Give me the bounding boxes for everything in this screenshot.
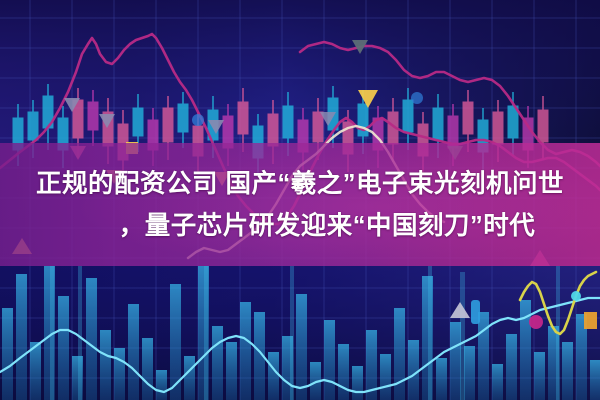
banner-image: 正规的配资公司 国产“羲之”电子束光刻机问世 ，量子芯片研发迎来“中国刻刀”时代	[0, 0, 600, 400]
title-line-1: 正规的配资公司 国产“羲之”电子束光刻机问世	[36, 164, 564, 204]
title-line-2: ，量子芯片研发迎来“中国刻刀”时代	[65, 206, 536, 246]
square-marker	[471, 300, 480, 324]
circle-marker	[571, 291, 581, 301]
title-block: 正规的配资公司 国产“羲之”电子束光刻机问世 ，量子芯片研发迎来“中国刻刀”时代	[0, 143, 600, 266]
circle-marker	[192, 114, 204, 126]
circle-marker	[529, 315, 543, 329]
square-marker	[584, 312, 597, 329]
circle-marker	[411, 92, 423, 104]
